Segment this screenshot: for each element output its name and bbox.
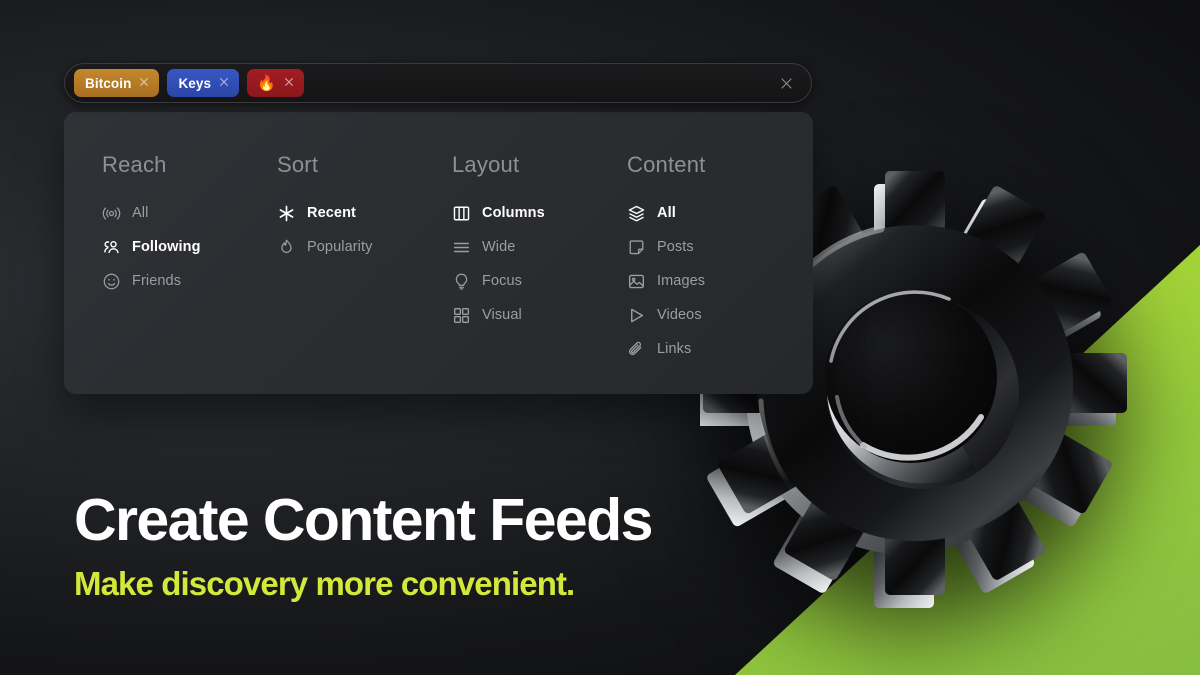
close-icon — [779, 76, 794, 91]
paperclip-icon — [627, 340, 646, 359]
column-title: Content — [627, 152, 802, 178]
filter-column-content: Content All Post — [627, 152, 802, 394]
filter-column-reach: Reach All — [102, 152, 277, 394]
filter-option-links[interactable]: Links — [627, 332, 802, 366]
column-title: Reach — [102, 152, 277, 178]
clear-search-button[interactable] — [775, 72, 797, 94]
filter-option-label: All — [132, 205, 148, 221]
page-subtitle: Make discovery more convenient. — [74, 567, 652, 602]
page-title: Create Content Feeds — [74, 490, 652, 551]
filter-option-label: Focus — [482, 273, 522, 289]
filter-tag-label: Bitcoin — [85, 76, 131, 91]
filter-option-label: Visual — [482, 307, 522, 323]
flame-icon — [277, 238, 296, 257]
filter-tag-fire[interactable]: 🔥 — [247, 69, 304, 97]
sparkle-icon — [277, 204, 296, 223]
filter-option-videos[interactable]: Videos — [627, 298, 802, 332]
layers-icon — [627, 204, 646, 223]
filter-column-sort: Sort Recent Popularity — [277, 152, 452, 394]
filter-option-visual[interactable]: Visual — [452, 298, 627, 332]
grid-icon — [452, 306, 471, 325]
filter-option-all[interactable]: All — [102, 196, 277, 230]
filter-option-posts[interactable]: Posts — [627, 230, 802, 264]
filter-option-label: Posts — [657, 239, 694, 255]
filter-tag-keys[interactable]: Keys — [167, 69, 239, 97]
lightbulb-icon — [452, 272, 471, 291]
filter-option-images[interactable]: Images — [627, 264, 802, 298]
filter-option-following[interactable]: Following — [102, 230, 277, 264]
filter-option-label: Popularity — [307, 239, 372, 255]
filter-option-friends[interactable]: Friends — [102, 264, 277, 298]
users-icon — [102, 238, 121, 257]
filter-option-label: Following — [132, 239, 201, 255]
filter-option-label: Links — [657, 341, 691, 357]
filter-option-label: All — [657, 205, 676, 221]
filter-option-label: Images — [657, 273, 705, 289]
filter-option-focus[interactable]: Focus — [452, 264, 627, 298]
filter-tag-label: Keys — [178, 76, 211, 91]
promo-banner: Bitcoin Keys 🔥 Reach — [0, 0, 1200, 675]
close-icon[interactable] — [218, 76, 230, 90]
filter-option-label: Columns — [482, 205, 545, 221]
note-icon — [627, 238, 646, 257]
filter-option-columns[interactable]: Columns — [452, 196, 627, 230]
broadcast-icon — [102, 204, 121, 223]
fire-emoji-icon: 🔥 — [257, 76, 276, 91]
filter-option-label: Recent — [307, 205, 356, 221]
search-input[interactable]: Bitcoin Keys 🔥 — [64, 63, 812, 103]
filter-dropdown-panel: Reach All — [64, 112, 813, 394]
filter-column-layout: Layout Columns Wide — [452, 152, 627, 394]
column-title: Sort — [277, 152, 452, 178]
image-icon — [627, 272, 646, 291]
hero-text-block: Create Content Feeds Make discovery more… — [74, 490, 652, 602]
filter-option-recent[interactable]: Recent — [277, 196, 452, 230]
filter-tag-bitcoin[interactable]: Bitcoin — [74, 69, 159, 97]
filter-option-label: Wide — [482, 239, 515, 255]
column-title: Layout — [452, 152, 627, 178]
columns-icon — [452, 204, 471, 223]
play-icon — [627, 306, 646, 325]
close-icon[interactable] — [138, 76, 150, 90]
filter-option-wide[interactable]: Wide — [452, 230, 627, 264]
filter-option-popularity[interactable]: Popularity — [277, 230, 452, 264]
filter-option-label: Videos — [657, 307, 702, 323]
filter-option-all-content[interactable]: All — [627, 196, 802, 230]
rows-icon — [452, 238, 471, 257]
filter-option-label: Friends — [132, 273, 181, 289]
close-icon[interactable] — [283, 76, 295, 90]
smiley-icon — [102, 272, 121, 291]
